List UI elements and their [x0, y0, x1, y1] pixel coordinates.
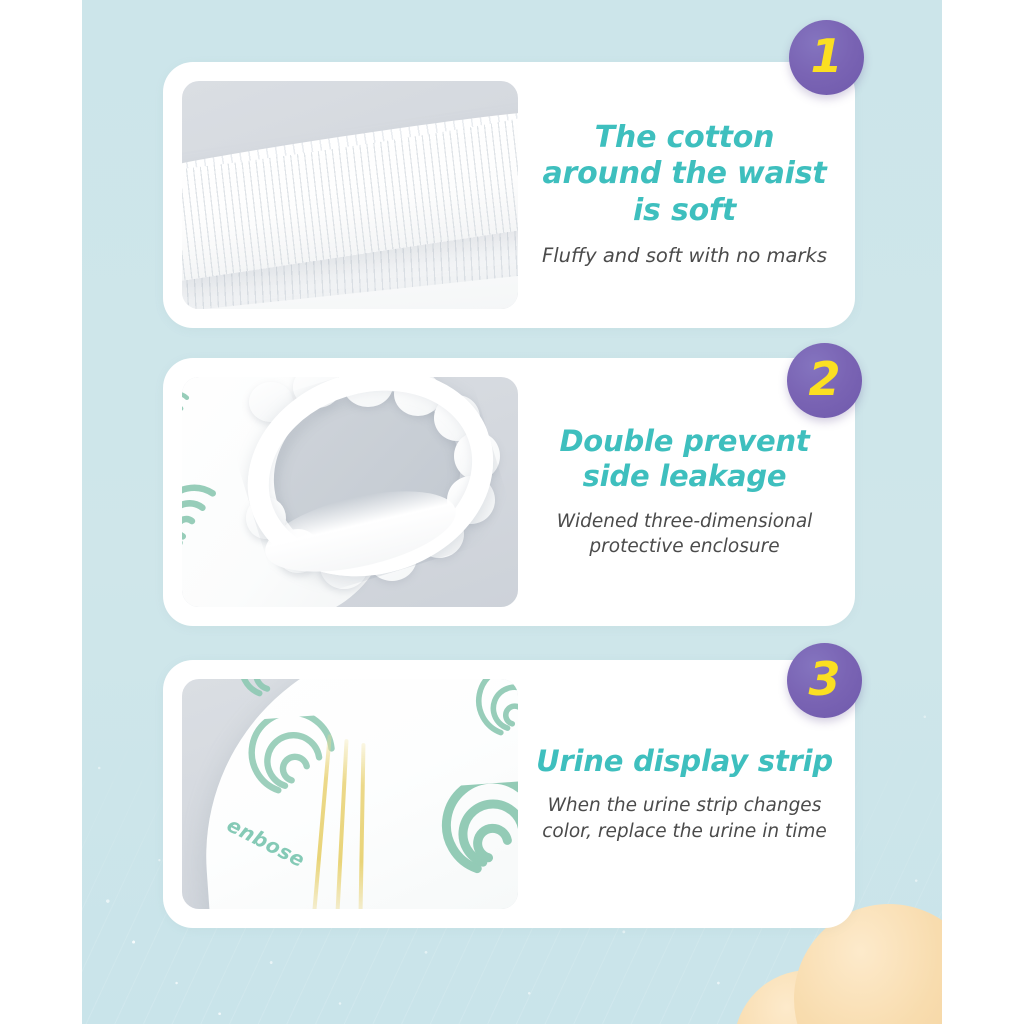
swirl-motif-icon [182, 470, 250, 582]
feature-subtitle-3: When the urine strip changes color, repl… [532, 793, 837, 844]
feature-photo-2 [182, 377, 518, 607]
swirl-motif-icon [222, 679, 318, 702]
feature-headline-1: The cotton around the waist is soft [532, 120, 837, 230]
feature-subtitle-2: Widened three-dimensional protective enc… [532, 509, 837, 560]
product-brand-text: enbose [224, 812, 310, 872]
feature-photo-1 [182, 81, 518, 309]
peach-cloud-shape-back [742, 964, 942, 1024]
feature-subtitle-1: Fluffy and soft with no marks [532, 243, 837, 270]
step-badge-1: 1 [789, 20, 864, 95]
feature-card-2: Double prevent side leakage Widened thre… [163, 358, 855, 626]
feature-photo-3: enbose [182, 679, 518, 909]
step-badge-2: 2 [787, 343, 862, 418]
feature-headline-3: Urine display strip [532, 744, 837, 779]
step-badge-3: 3 [787, 643, 862, 718]
feature-text-2: Double prevent side leakage Widened thre… [518, 424, 855, 560]
feature-card-1: The cotton around the waist is soft Fluf… [163, 62, 855, 328]
swirl-motif-icon [420, 778, 518, 898]
diaper-surface: enbose [192, 679, 518, 909]
feature-text-1: The cotton around the waist is soft Fluf… [518, 120, 855, 271]
peach-cloud-shape-small [734, 970, 884, 1024]
swirl-motif-icon [459, 679, 518, 753]
feature-headline-2: Double prevent side leakage [532, 424, 837, 495]
feature-card-3: enbose Urine display strip When the urin… [163, 660, 855, 928]
infographic-page: The cotton around the waist is soft Fluf… [0, 0, 1024, 1024]
swirl-motif-icon [182, 386, 218, 461]
feature-text-3: Urine display strip When the urine strip… [518, 744, 855, 844]
